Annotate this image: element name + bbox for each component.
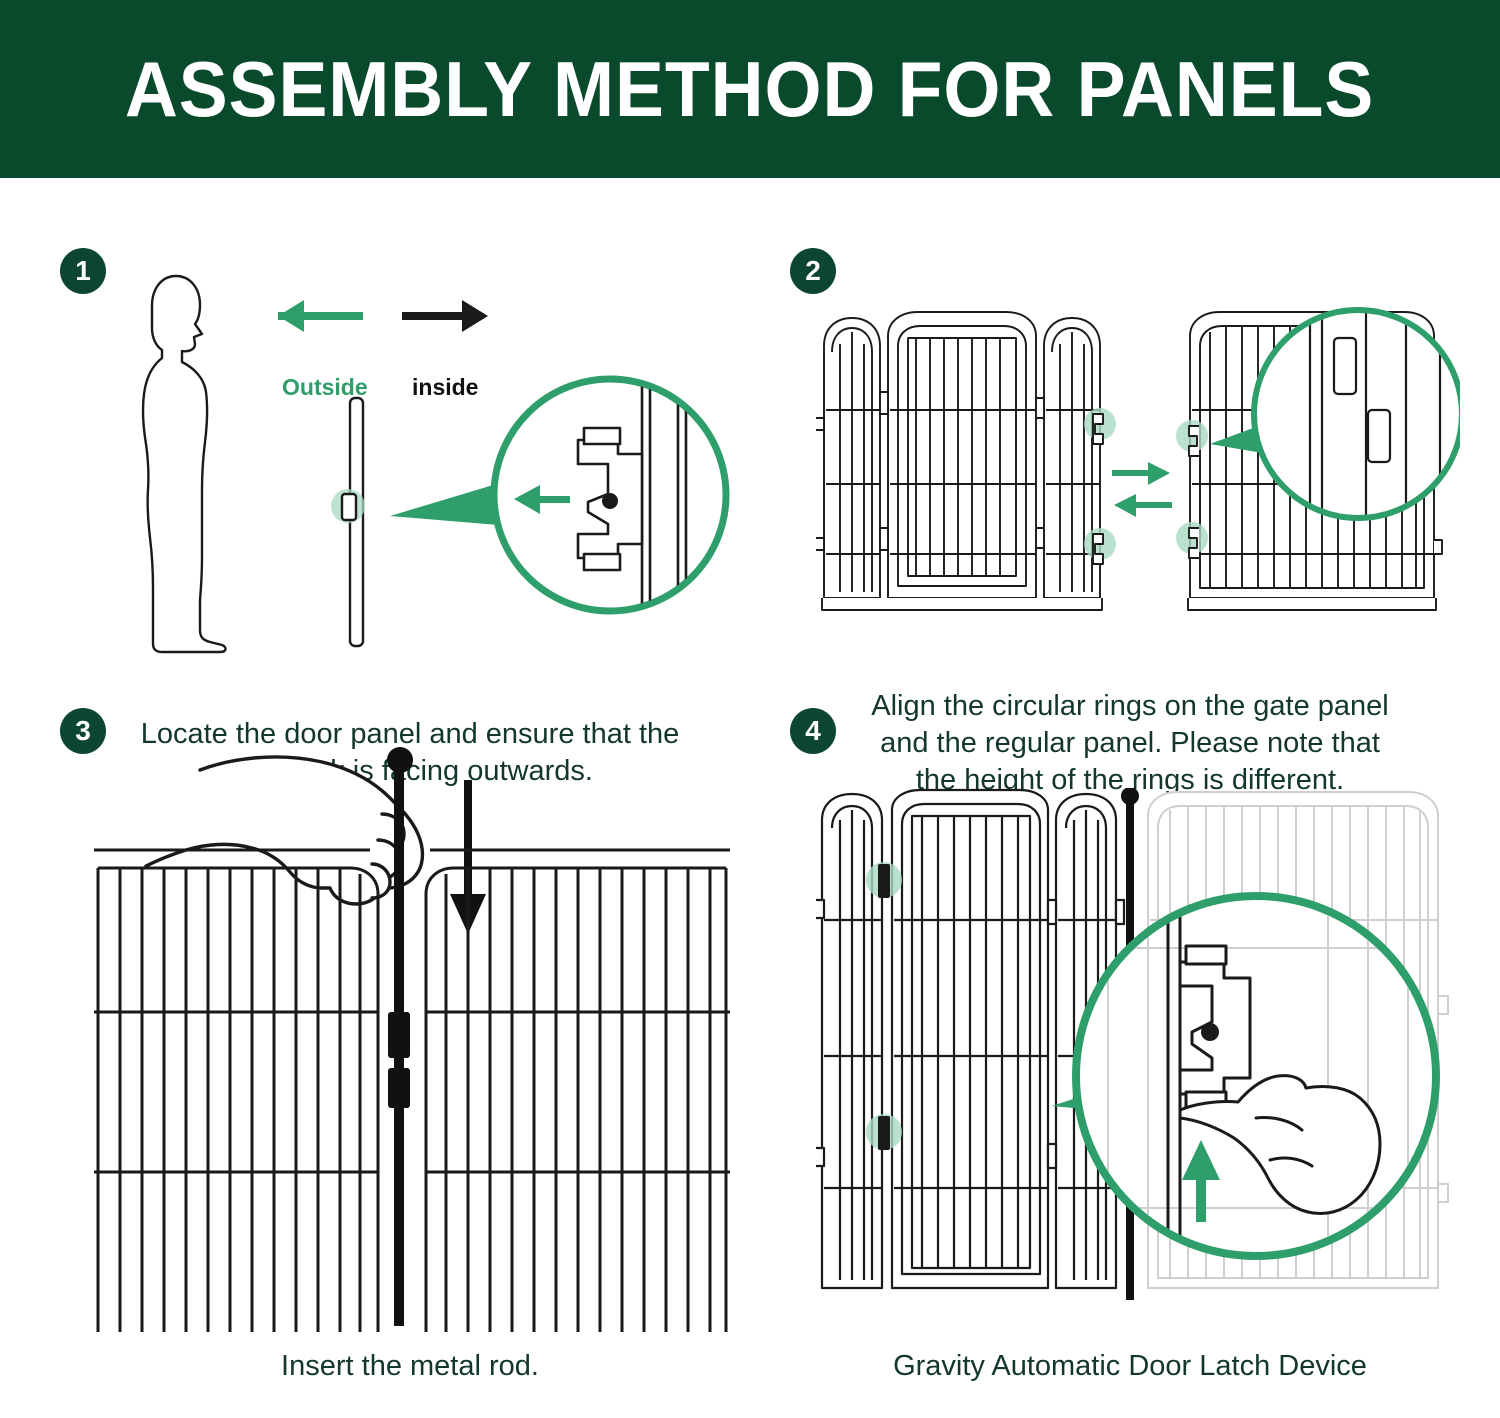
- page-title: ASSEMBLY METHOD FOR PANELS: [125, 50, 1374, 128]
- step-3-caption-line-1: Insert the metal rod.: [60, 1348, 760, 1385]
- step-4-caption-line-1: Gravity Automatic Door Latch Device: [790, 1348, 1470, 1385]
- label-outside: Outside: [282, 376, 368, 399]
- step-1-illustration: [90, 258, 770, 698]
- page-header: ASSEMBLY METHOD FOR PANELS: [0, 0, 1500, 178]
- step-4-illustration: [808, 788, 1458, 1328]
- step-4-badge: 4: [790, 708, 836, 754]
- step-2-badge: 2: [790, 248, 836, 294]
- latch-pin-dot: [602, 493, 618, 509]
- step-3-illustration: [82, 722, 742, 1332]
- step-3-caption: Insert the metal rod.: [60, 1348, 760, 1385]
- align-arrows: [1112, 462, 1172, 517]
- door-panel-edge: [331, 398, 365, 646]
- person-silhouette-icon: [143, 276, 226, 652]
- label-inside: inside: [412, 376, 478, 399]
- gate-panel-group: [816, 312, 1102, 610]
- outside-arrow-icon: [278, 300, 363, 332]
- left-wire-panel: [94, 850, 378, 1332]
- lock-detail-magnifier: [494, 368, 726, 622]
- step-4-caption: Gravity Automatic Door Latch Device: [790, 1348, 1470, 1385]
- step-4: 4: [790, 708, 1470, 1408]
- inside-arrow-icon: [402, 300, 488, 332]
- step-2-illustration: [810, 306, 1460, 636]
- step-3: 3: [60, 708, 760, 1408]
- steps-container: 1: [0, 178, 1500, 1418]
